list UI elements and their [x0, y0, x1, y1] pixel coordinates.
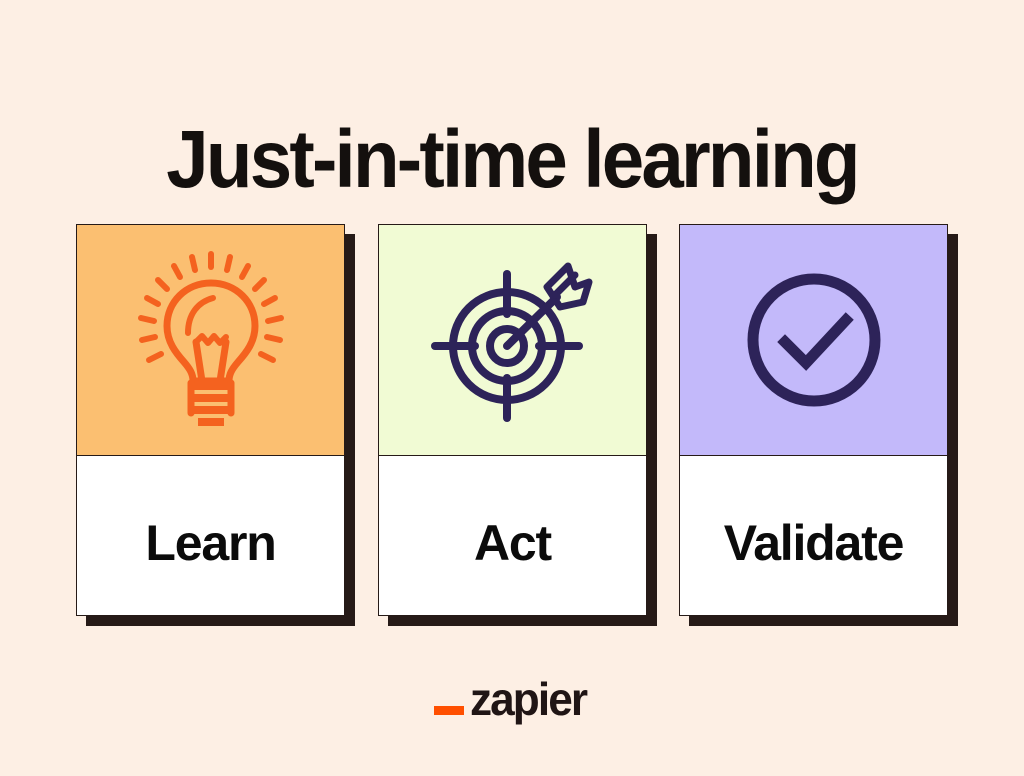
- zapier-logo: zapier: [0, 676, 1024, 722]
- circle-check-icon: [742, 268, 886, 412]
- card-label-zone: Act: [379, 456, 646, 615]
- card-body: Act: [378, 224, 647, 616]
- card-art-validate: [680, 225, 947, 456]
- card-act[interactable]: Act: [378, 224, 647, 616]
- underscore-mark-icon: [434, 706, 464, 715]
- zapier-wordmark: zapier: [470, 676, 586, 722]
- slide-canvas: Just-in-time learning: [0, 0, 1024, 776]
- card-learn[interactable]: Learn: [76, 224, 345, 616]
- card-label-learn: Learn: [145, 518, 275, 568]
- card-label-validate: Validate: [724, 518, 903, 568]
- card-row: Learn: [76, 224, 948, 626]
- target-arrow-icon: [429, 256, 597, 424]
- card-label-zone: Validate: [680, 456, 947, 615]
- card-label-act: Act: [474, 518, 551, 568]
- card-art-act: [379, 225, 646, 456]
- card-body: Learn: [76, 224, 345, 616]
- lightbulb-icon: [136, 250, 286, 430]
- card-label-zone: Learn: [77, 456, 344, 615]
- card-art-learn: [77, 225, 344, 456]
- card-body: Validate: [679, 224, 948, 616]
- card-validate[interactable]: Validate: [679, 224, 948, 616]
- page-title: Just-in-time learning: [36, 119, 988, 201]
